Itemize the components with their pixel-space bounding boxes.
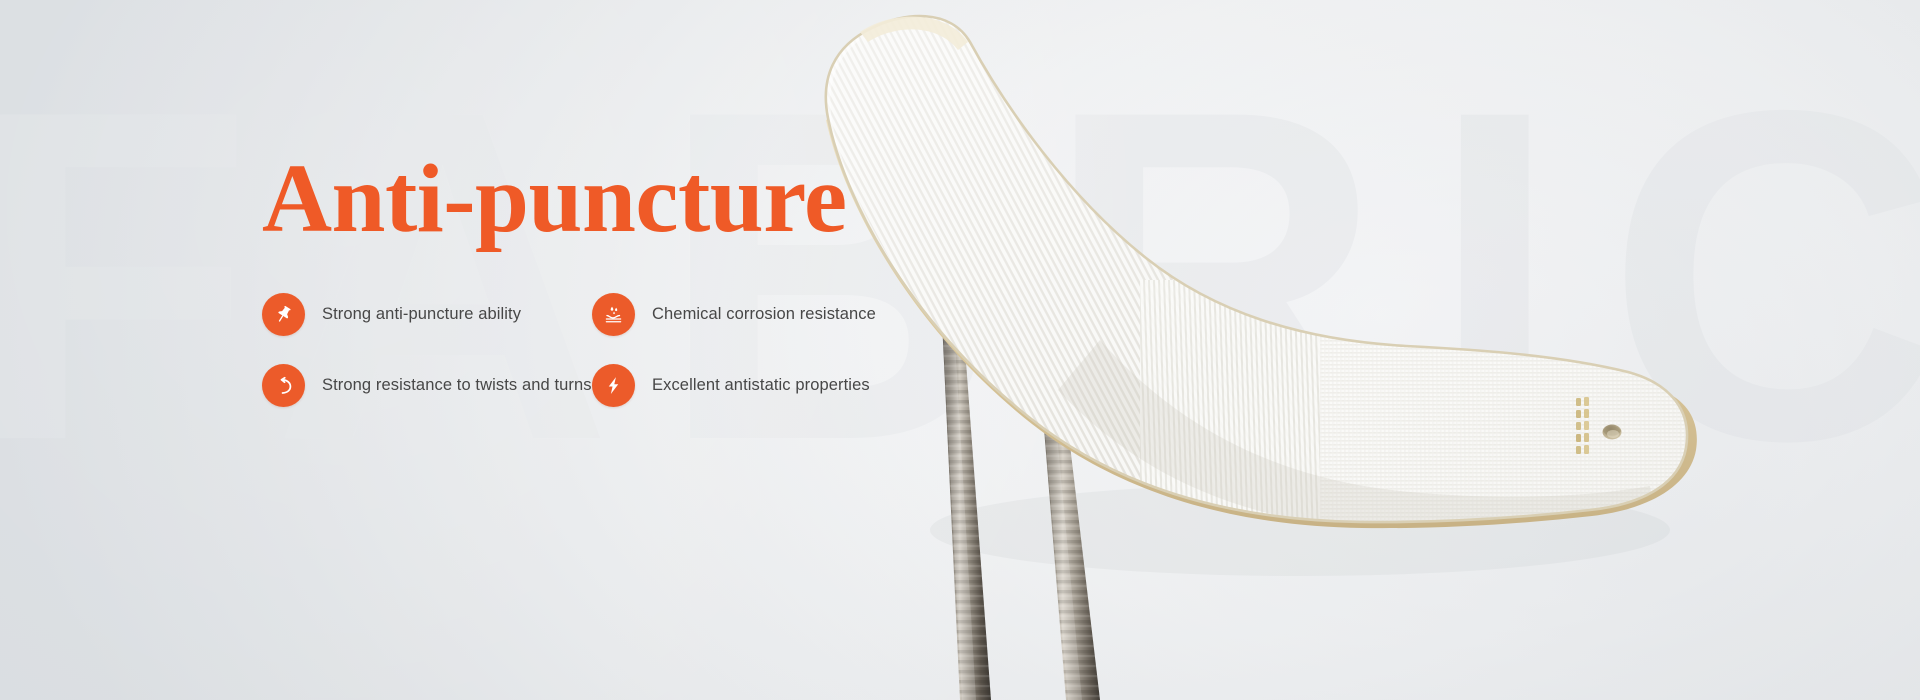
anti-puncture-banner: FABRIC FABRIC [0, 0, 1920, 700]
page-title: Anti-puncture [262, 150, 1162, 247]
feature-label: Strong anti-puncture ability [322, 305, 521, 324]
lightning-bolt-icon [592, 364, 635, 407]
feature-item-anti-puncture: Strong anti-puncture ability [262, 293, 592, 336]
feature-item-twist-resistance: Strong resistance to twists and turns [262, 364, 592, 407]
feature-label: Strong resistance to twists and turns [322, 376, 592, 395]
chemical-corrosion-icon [592, 293, 635, 336]
feature-item-chemical-corrosion: Chemical corrosion resistance [592, 293, 922, 336]
pushpin-icon [262, 293, 305, 336]
feature-list: Strong anti-puncture ability Chemical co… [262, 293, 1162, 407]
feature-label: Chemical corrosion resistance [652, 305, 876, 324]
feature-item-antistatic: Excellent antistatic properties [592, 364, 922, 407]
banner-content: Anti-puncture Strong anti-puncture abili… [262, 150, 1162, 407]
feature-label: Excellent antistatic properties [652, 376, 870, 395]
rotation-arrow-icon [262, 364, 305, 407]
